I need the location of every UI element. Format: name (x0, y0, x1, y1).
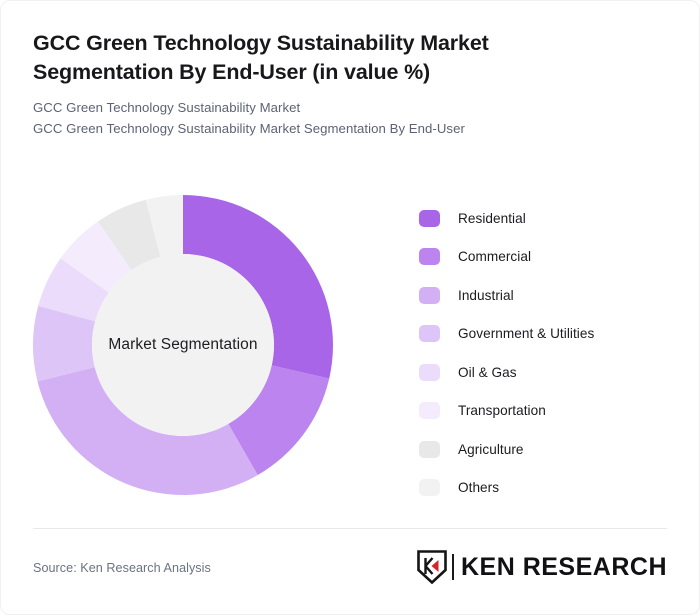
subtitle-line-1: GCC Green Technology Sustainability Mark… (33, 98, 667, 119)
legend-item-label: Government & Utilities (458, 326, 594, 341)
legend-color-swatch (419, 364, 440, 381)
legend-item[interactable]: Industrial (419, 276, 669, 315)
donut-chart: Market Segmentation (33, 195, 333, 495)
subtitle-group: GCC Green Technology Sustainability Mark… (33, 98, 667, 139)
legend-item-label: Others (458, 480, 499, 495)
legend-color-swatch (419, 210, 440, 227)
chart-legend: ResidentialCommercialIndustrialGovernmen… (419, 199, 669, 507)
legend-item[interactable]: Transportation (419, 392, 669, 431)
brand-separator (452, 554, 454, 580)
legend-item[interactable]: Commercial (419, 238, 669, 277)
legend-item-label: Transportation (458, 403, 546, 418)
legend-item-label: Industrial (458, 288, 514, 303)
footer-divider (33, 528, 667, 529)
ken-research-shield-icon (417, 550, 447, 584)
brand-name: KEN RESEARCH (461, 555, 667, 580)
legend-item-label: Commercial (458, 249, 531, 264)
chart-card: GCC Green Technology Sustainability Mark… (0, 0, 700, 615)
legend-color-swatch (419, 248, 440, 265)
subtitle-line-2: GCC Green Technology Sustainability Mark… (33, 119, 667, 140)
legend-color-swatch (419, 479, 440, 496)
legend-color-swatch (419, 287, 440, 304)
legend-item[interactable]: Oil & Gas (419, 353, 669, 392)
legend-color-swatch (419, 402, 440, 419)
legend-color-swatch (419, 441, 440, 458)
legend-item[interactable]: Residential (419, 199, 669, 238)
chart-header: GCC Green Technology Sustainability Mark… (33, 29, 667, 139)
donut-center-hole (92, 254, 274, 436)
legend-item-label: Agriculture (458, 442, 524, 457)
source-note: Source: Ken Research Analysis (33, 561, 211, 575)
page-title: GCC Green Technology Sustainability Mark… (33, 29, 593, 86)
legend-item-label: Residential (458, 211, 526, 226)
legend-item-label: Oil & Gas (458, 365, 517, 380)
donut-svg (33, 195, 333, 495)
legend-color-swatch (419, 325, 440, 342)
brand-logo: KEN RESEARCH (417, 550, 667, 584)
legend-item[interactable]: Agriculture (419, 430, 669, 469)
legend-item[interactable]: Government & Utilities (419, 315, 669, 354)
chart-plot-area: Market Segmentation ResidentialCommercia… (1, 181, 700, 511)
legend-item[interactable]: Others (419, 469, 669, 508)
